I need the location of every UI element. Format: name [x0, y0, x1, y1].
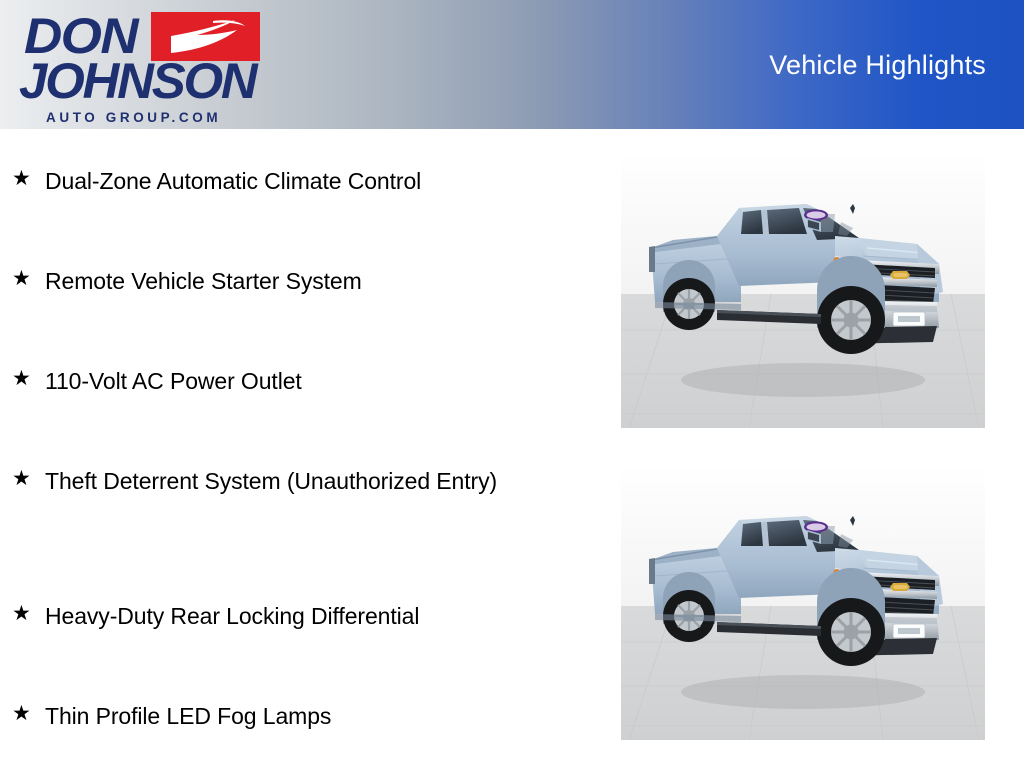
- list-item: ★ Heavy-Duty Rear Locking Differential: [12, 599, 582, 633]
- list-item: ★ Remote Vehicle Starter System: [12, 264, 582, 298]
- swoosh-icon: [151, 12, 260, 61]
- star-bullet-icon: ★: [12, 364, 45, 394]
- vehicle-highlights-page: DON JOHNSON AUTO GROUP.COM Vehicle Highl…: [0, 0, 1024, 768]
- page-header: DON JOHNSON AUTO GROUP.COM Vehicle Highl…: [0, 0, 1024, 129]
- list-item: ★ Thin Profile LED Fog Lamps: [12, 699, 582, 733]
- page-title: Vehicle Highlights: [769, 50, 986, 81]
- vehicle-photo-1[interactable]: [621, 152, 985, 428]
- list-item: ★ Dual-Zone Automatic Climate Control: [12, 164, 582, 198]
- dealership-logo[interactable]: DON JOHNSON AUTO GROUP.COM: [11, 8, 261, 128]
- logo-red-badge: [151, 12, 260, 61]
- star-bullet-icon: ★: [12, 464, 45, 494]
- list-item: ★ 110-Volt AC Power Outlet: [12, 364, 582, 398]
- list-item-label: Theft Deterrent System (Unauthorized Ent…: [45, 464, 557, 498]
- list-item-label: Remote Vehicle Starter System: [45, 264, 582, 298]
- truck-illustration: [621, 464, 985, 740]
- list-item: ★ Theft Deterrent System (Unauthorized E…: [12, 464, 557, 498]
- star-bullet-icon: ★: [12, 699, 45, 729]
- truck-illustration: [621, 152, 985, 428]
- star-bullet-icon: ★: [12, 264, 45, 294]
- list-item-label: Heavy-Duty Rear Locking Differential: [45, 599, 582, 633]
- star-bullet-icon: ★: [12, 599, 45, 629]
- logo-tagline: AUTO GROUP.COM: [46, 111, 221, 125]
- list-item-label: Thin Profile LED Fog Lamps: [45, 699, 582, 733]
- star-bullet-icon: ★: [12, 164, 45, 194]
- list-item-label: 110-Volt AC Power Outlet: [45, 364, 582, 398]
- vehicle-photo-2[interactable]: [621, 464, 985, 740]
- list-item-label: Dual-Zone Automatic Climate Control: [45, 164, 582, 198]
- logo-line-johnson: JOHNSON: [19, 56, 256, 106]
